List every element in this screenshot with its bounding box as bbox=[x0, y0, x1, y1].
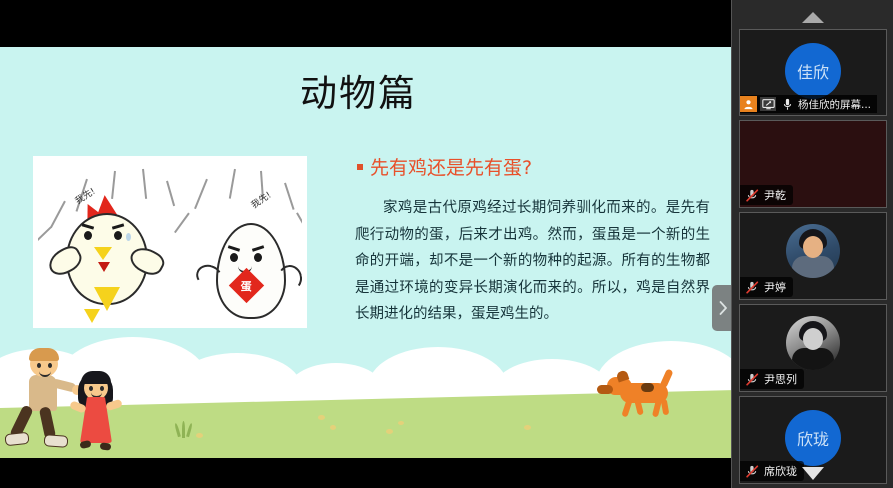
chicken-eye-left bbox=[84, 231, 92, 240]
chevron-down-icon bbox=[802, 467, 824, 480]
microphone-icon bbox=[779, 97, 795, 111]
meeting-screen-share-window: 动物篇 bbox=[0, 0, 893, 488]
screen-share-icon bbox=[760, 97, 776, 111]
participant-name-2: 尹婷 bbox=[764, 279, 786, 295]
egg-eye-right bbox=[254, 253, 262, 262]
letterbox-bottom bbox=[0, 458, 731, 488]
egg-eye-left bbox=[230, 253, 238, 262]
presentation-slide: 动物篇 bbox=[0, 47, 731, 458]
participant-rail: 佳欣 bbox=[731, 0, 893, 488]
egg-label-text: 蛋 bbox=[241, 278, 252, 294]
scroll-up-button[interactable] bbox=[732, 4, 893, 30]
presenter-status-bar: 杨佳欣的屏幕... bbox=[740, 95, 877, 113]
chicken-foot bbox=[84, 309, 100, 323]
avatar-initials: 佳欣 bbox=[797, 59, 829, 83]
participant-name-bar-3: 尹思列 bbox=[740, 369, 804, 389]
chevron-up-icon bbox=[802, 12, 824, 23]
participant-tile-presenter[interactable]: 佳欣 bbox=[739, 29, 887, 116]
chicken-beak bbox=[94, 247, 112, 260]
microphone-muted-icon bbox=[744, 280, 760, 294]
chicken-tail bbox=[94, 287, 120, 311]
participant-name-1: 尹乾 bbox=[764, 187, 786, 203]
egg-body bbox=[216, 223, 286, 319]
presenter-name-label: 杨佳欣的屏幕... bbox=[798, 97, 871, 112]
avatar: 佳欣 bbox=[785, 43, 841, 99]
participant-tile-3[interactable]: 尹思列 bbox=[739, 304, 887, 392]
slide-bottom-scenery bbox=[0, 337, 731, 458]
chicken-eye-right bbox=[114, 231, 122, 240]
avatar bbox=[786, 224, 840, 278]
person-icon bbox=[740, 96, 757, 112]
participant-tile-2[interactable]: 尹婷 bbox=[739, 212, 887, 300]
shared-screen-area: 动物篇 bbox=[0, 0, 731, 488]
chicken-mouth bbox=[98, 262, 110, 272]
microphone-muted-icon bbox=[744, 188, 760, 202]
slide-title: 动物篇 bbox=[300, 63, 417, 117]
participant-tile-1[interactable]: 尹乾 bbox=[739, 120, 887, 208]
next-slide-button[interactable] bbox=[712, 285, 731, 331]
slide-body-text: 家鸡是古代原鸡经过长期饲养驯化而来的。是先有爬行动物的蛋，后来才出鸡。然而，蛋虽… bbox=[355, 195, 710, 328]
bullet-square-icon bbox=[357, 164, 363, 170]
avatar bbox=[786, 316, 840, 370]
participant-name-bar-2: 尹婷 bbox=[740, 277, 793, 297]
bullet-heading-row: 先有鸡还是先有蛋? bbox=[357, 153, 532, 180]
chicken-sweat-drop bbox=[126, 233, 131, 241]
letterbox-top bbox=[0, 0, 731, 47]
avatar-initials: 欣珑 bbox=[797, 426, 829, 450]
scroll-down-button[interactable] bbox=[732, 460, 893, 486]
participant-name-bar-1: 尹乾 bbox=[740, 185, 793, 205]
egg-shout-text: 我先! bbox=[248, 188, 273, 211]
chicken-egg-illustration: 我先! 蛋 我先! bbox=[33, 156, 307, 328]
microphone-muted-icon bbox=[744, 372, 760, 386]
participant-name-3: 尹思列 bbox=[764, 371, 797, 387]
avatar: 欣珑 bbox=[785, 410, 841, 466]
bullet-heading: 先有鸡还是先有蛋? bbox=[370, 153, 532, 180]
